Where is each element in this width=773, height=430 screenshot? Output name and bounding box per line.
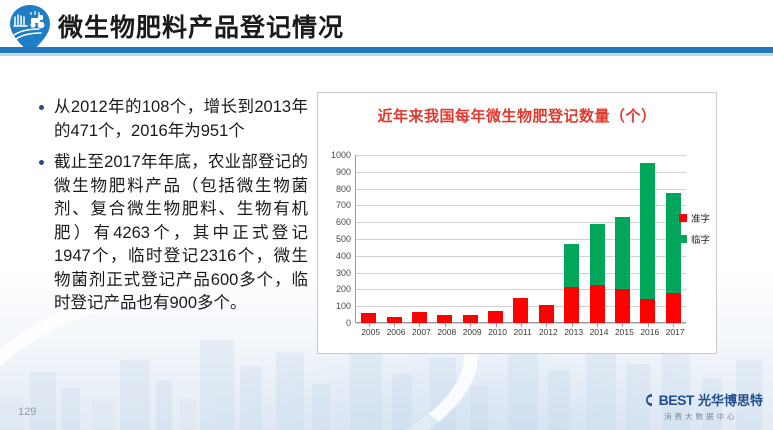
title-rule-secondary <box>0 53 773 56</box>
x-axis-tick-label: 2017 <box>666 327 681 337</box>
x-axis-labels: 2005200620072008200920102011201220132014… <box>356 327 686 337</box>
bar-group[interactable] <box>463 155 478 323</box>
slide-header: 微生物肥料产品登记情况 <box>0 0 773 56</box>
bar-segment-linzi[interactable] <box>615 217 630 289</box>
brand-subtitle: 消费大数据中心 <box>639 411 763 422</box>
y-axis-tick-label: 1000 <box>331 150 351 160</box>
bar-group[interactable] <box>412 155 427 323</box>
y-axis-tick-label: 700 <box>336 200 351 210</box>
bar-group[interactable] <box>437 155 452 323</box>
legend-item[interactable]: 临字 <box>679 232 710 246</box>
legend-swatch-icon <box>679 214 687 222</box>
bar-segment-linzi[interactable] <box>640 163 655 299</box>
x-axis-tick-label: 2012 <box>539 327 554 337</box>
chart-card: 近年来我国每年微生物肥登记数量（个） 010020030040050060070… <box>317 92 717 354</box>
bar-group[interactable] <box>361 155 376 323</box>
bar-segment-linzi[interactable] <box>564 244 579 287</box>
bar-segment-zhunzi[interactable] <box>564 287 579 323</box>
bar-group[interactable] <box>640 155 655 323</box>
x-axis-tick-label: 2016 <box>640 327 655 337</box>
y-axis-tick-label: 900 <box>336 167 351 177</box>
bullet-text: 从2012年的108个，增长到2013年的471个，2016年为951个 <box>54 98 308 140</box>
brand-name-text: 光华博思特 <box>698 390 763 409</box>
bar-segment-zhunzi[interactable] <box>539 305 554 323</box>
bar-series-container <box>356 155 686 323</box>
x-axis-tick-label: 2011 <box>513 327 528 337</box>
legend-label: 准字 <box>691 211 710 225</box>
bar-group[interactable] <box>513 155 528 323</box>
legend-item[interactable]: 准字 <box>679 211 710 225</box>
bar-segment-zhunzi[interactable] <box>488 311 503 323</box>
y-axis-tick-label: 0 <box>346 318 351 328</box>
chart-plot-area: 01002003004005006007008009001000 <box>356 155 686 323</box>
y-axis-tick-label: 600 <box>336 217 351 227</box>
y-axis-tick-label: 400 <box>336 251 351 261</box>
y-axis-tick-label: 100 <box>336 301 351 311</box>
bar-segment-zhunzi[interactable] <box>361 313 376 323</box>
chart-plot-wrapper: 01002003004005006007008009001000 2005200… <box>318 93 718 355</box>
x-axis-tick-label: 2015 <box>615 327 630 337</box>
bullet-dot-icon <box>39 160 44 165</box>
x-axis-tick-label: 2014 <box>590 327 605 337</box>
bar-group[interactable] <box>564 155 579 323</box>
x-axis-tick-label: 2006 <box>387 327 402 337</box>
y-axis-tick-label: 800 <box>336 184 351 194</box>
x-axis-tick-label: 2005 <box>361 327 376 337</box>
x-axis-tick-label: 2009 <box>463 327 478 337</box>
slide-canvas: 微生物肥料产品登记情况 从2012年的108个，增长到2013年的471个，20… <box>0 0 773 430</box>
bar-segment-zhunzi[interactable] <box>666 293 681 323</box>
bar-segment-zhunzi[interactable] <box>412 312 427 323</box>
legend-swatch-icon <box>679 235 687 243</box>
y-axis-tick-label: 300 <box>336 268 351 278</box>
brand-mark-text: BEST <box>659 392 694 408</box>
list-item: 截止至2017年年底，农业部登记的微生物肥料产品（包括微生物菌剂、复合微生物肥料… <box>36 151 308 316</box>
page-title: 微生物肥料产品登记情况 <box>58 8 344 44</box>
bullet-dot-icon <box>39 105 44 110</box>
bullet-list: 从2012年的108个，增长到2013年的471个，2016年为951个 截止至… <box>36 96 308 324</box>
brand-logo: BEST 光华博思特 消费大数据中心 <box>639 390 763 422</box>
bar-segment-zhunzi[interactable] <box>615 289 630 323</box>
bar-segment-zhunzi[interactable] <box>437 315 452 323</box>
x-axis-tick-label: 2013 <box>564 327 579 337</box>
bar-group[interactable] <box>590 155 605 323</box>
list-item: 从2012年的108个，增长到2013年的471个，2016年为951个 <box>36 96 308 143</box>
x-axis-tick-label: 2007 <box>412 327 427 337</box>
page-number: 129 <box>18 406 36 418</box>
bar-group[interactable] <box>539 155 554 323</box>
x-axis-tick-label: 2008 <box>437 327 452 337</box>
legend-label: 临字 <box>691 232 710 246</box>
y-axis-tick-label: 200 <box>336 284 351 294</box>
bullet-text: 截止至2017年年底，农业部登记的微生物肥料产品（包括微生物菌剂、复合微生物肥料… <box>54 153 308 312</box>
y-axis-tick-label: 500 <box>336 234 351 244</box>
bar-segment-zhunzi[interactable] <box>640 299 655 323</box>
bar-group[interactable] <box>387 155 402 323</box>
bar-group[interactable] <box>488 155 503 323</box>
bar-segment-zhunzi[interactable] <box>590 285 605 323</box>
bar-group[interactable] <box>615 155 630 323</box>
bar-segment-zhunzi[interactable] <box>463 315 478 323</box>
best-mark-icon <box>639 393 655 407</box>
x-axis-tick-label: 2010 <box>488 327 503 337</box>
bar-segment-linzi[interactable] <box>590 224 605 285</box>
bar-segment-zhunzi[interactable] <box>513 298 528 323</box>
chart-legend: 准字临字 <box>679 211 710 253</box>
